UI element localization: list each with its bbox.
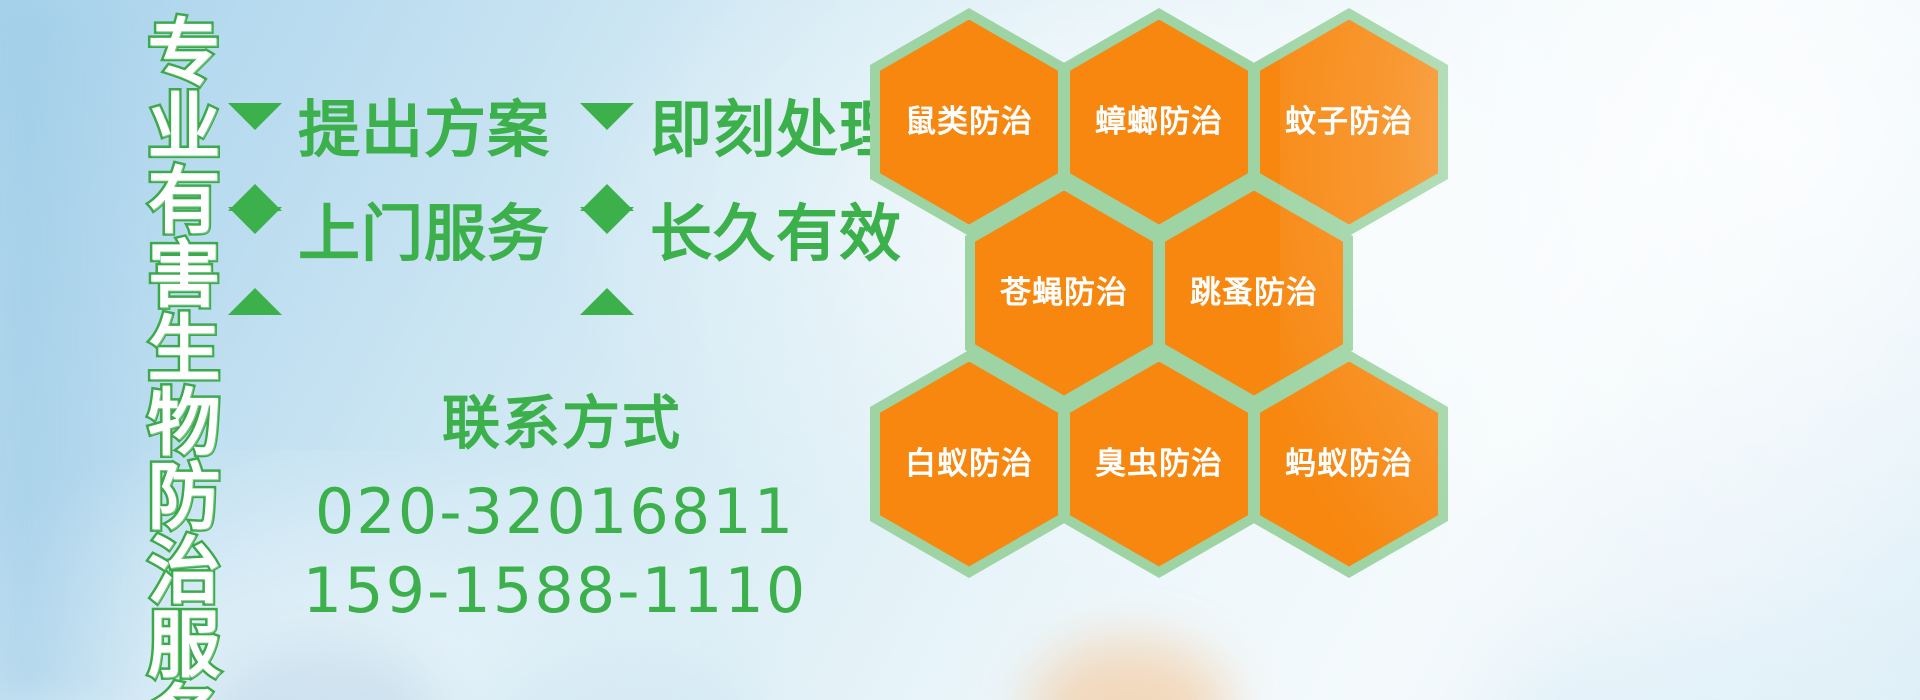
background-blob-1: [210, 640, 440, 700]
hex-inner: 臭虫防治: [1070, 362, 1248, 567]
hex-inner: 跳蚤防治: [1165, 191, 1343, 396]
hex-inner: 苍蝇防治: [975, 191, 1153, 396]
phone-number-landline[interactable]: 020-32016811: [300, 472, 810, 551]
hex-inner: 蚂蚁防治: [1260, 362, 1438, 567]
diamond-icon: [228, 103, 282, 157]
feature-row-1: 提出方案 即刻处理: [228, 78, 868, 182]
feature-row-2: 上门服务 长久有效: [228, 182, 868, 286]
hex-inner: 蚊子防治: [1260, 20, 1438, 225]
phone-number-mobile[interactable]: 159-1588-1110: [300, 551, 810, 630]
service-label: 苍蝇防治: [1000, 278, 1128, 309]
diamond-icon: [580, 103, 634, 157]
feature-item-immediate-handling: 即刻处理: [580, 99, 902, 161]
feature-item-propose-plan: 提出方案: [228, 99, 550, 161]
service-label: 跳蚤防治: [1190, 278, 1318, 309]
background-blob-2: [470, 650, 770, 700]
feature-list: 提出方案 即刻处理 上门服务 长久有效: [228, 78, 868, 286]
vertical-headline: 专业有害生物防治服务: [110, 14, 214, 686]
service-label: 鼠类防治: [905, 107, 1033, 138]
feature-item-long-lasting: 长久有效: [580, 203, 902, 265]
promo-banner: 专业有害生物防治服务 提出方案 即刻处理 上门服务 长久有效 联系方式: [0, 0, 1920, 700]
background-blob-4: [1500, 620, 1920, 700]
contact-title: 联系方式: [314, 392, 810, 456]
background-blob-3: [1030, 640, 1230, 700]
feature-label: 提出方案: [298, 99, 550, 161]
hex-inner: 鼠类防治: [880, 20, 1058, 225]
hex-inner: 白蚁防治: [880, 362, 1058, 567]
service-label: 蟑螂防治: [1095, 107, 1223, 138]
service-label: 臭虫防治: [1095, 449, 1223, 480]
diamond-icon: [580, 207, 634, 261]
contact-block: 联系方式 020-32016811 159-1588-1110: [300, 392, 810, 631]
hex-inner: 蟑螂防治: [1070, 20, 1248, 225]
service-label: 白蚁防治: [905, 449, 1033, 480]
feature-label: 上门服务: [298, 203, 550, 265]
service-hexagon-cluster: 鼠类防治 蟑螂防治 蚊子防治 苍蝇防治 跳蚤防治 白蚁防治: [862, 8, 1462, 568]
service-label: 蚂蚁防治: [1285, 449, 1413, 480]
service-label: 蚊子防治: [1285, 107, 1413, 138]
feature-item-onsite-service: 上门服务: [228, 203, 550, 265]
diamond-icon: [228, 207, 282, 261]
